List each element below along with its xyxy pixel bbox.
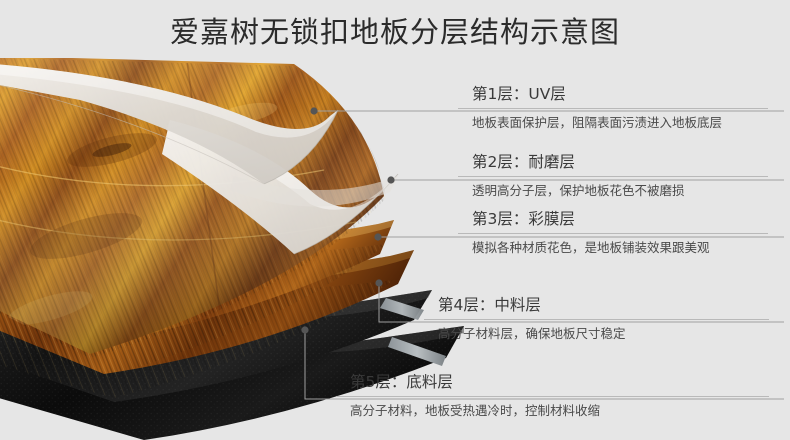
layer-4-description: 高分子材料层，确保地板尺寸稳定 [438,325,769,343]
annotation-layer-2: 第2层：耐磨层 透明高分子层，保护地板花色不被磨损 [472,152,768,200]
layer-1-description: 地板表面保护层，阻隔表面污渍进入地板底层 [472,114,768,132]
annotation-layer-5: 第5层：底料层 高分子材料，地板受热遇冷时，控制材料收缩 [350,372,769,420]
layer-2-heading: 第2层：耐磨层 [472,152,768,176]
layer-1-divider [458,108,768,109]
layer-1-heading: 第1层：UV层 [472,84,768,108]
layer-5-heading: 第5层：底料层 [350,372,769,396]
layer-5-description: 高分子材料，地板受热遇冷时，控制材料收缩 [350,402,769,420]
layer-3-divider [458,233,768,234]
layer-5-divider [336,396,769,397]
annotation-layer-1: 第1层：UV层 地板表面保护层，阻隔表面污渍进入地板底层 [472,84,768,132]
layer-2-description: 透明高分子层，保护地板花色不被磨损 [472,182,768,200]
layer-4-divider [424,319,769,320]
annotation-layer-3: 第3层：彩膜层 模拟各种材质花色，是地板铺装效果跟美观 [472,209,768,257]
layer-3-description: 模拟各种材质花色，是地板铺装效果跟美观 [472,239,768,257]
layer-2-divider [458,176,768,177]
layer-4-heading: 第4层：中料层 [438,295,769,319]
annotation-layer-4: 第4层：中料层 高分子材料层，确保地板尺寸稳定 [438,295,769,343]
layer-3-heading: 第3层：彩膜层 [472,209,768,233]
page-title: 爱嘉树无锁扣地板分层结构示意图 [0,14,790,50]
layered-flooring-infographic: 爱嘉树无锁扣地板分层结构示意图 [0,0,790,440]
